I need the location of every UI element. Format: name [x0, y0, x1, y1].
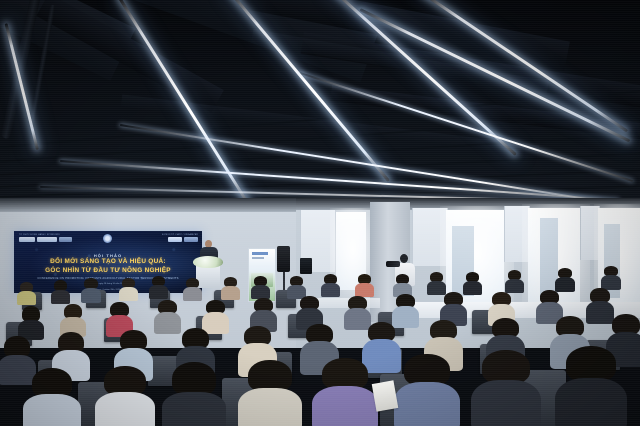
- attendee: [172, 362, 216, 426]
- attendee: [566, 346, 616, 426]
- attendee: [248, 360, 292, 426]
- flower-arrangement: [193, 256, 223, 268]
- attendee: [604, 266, 618, 290]
- attendee: [368, 322, 395, 372]
- attendee: [4, 336, 30, 384]
- photographer-head: [400, 254, 408, 263]
- attendee: [358, 274, 371, 296]
- attendee: [558, 268, 572, 292]
- logo-chip: [37, 237, 57, 242]
- attendee: [430, 272, 443, 294]
- audience-area: [0, 282, 640, 426]
- logo-chip: [59, 237, 72, 242]
- wall-monitor: [300, 258, 312, 274]
- attendee: [404, 354, 450, 426]
- camera-lens-icon: [386, 261, 400, 267]
- attendee: [84, 278, 98, 302]
- screen-title-line-2: GÓC NHÌN TỪ ĐẦU TƯ NÔNG NGHIỆP: [14, 267, 202, 276]
- screen-sponsor-logos: TỔ CHỨC ĐỒNG HÀNH / SPONSORS: [19, 234, 72, 242]
- screen-subtitle: CONFERENCE ON PROMOTING VIETNAM'S AGRICU…: [14, 277, 202, 280]
- pa-speaker: [277, 246, 290, 272]
- attendee: [254, 276, 267, 298]
- attendee: [158, 300, 177, 334]
- attendee: [32, 368, 72, 426]
- attendee: [104, 366, 146, 426]
- screen-center-seal: [103, 234, 112, 243]
- screen-left-logo-caption: TỔ CHỨC ĐỒNG HÀNH / SPONSORS: [19, 234, 72, 236]
- exposed-industrial-ceiling: [0, 0, 640, 222]
- attendee: [612, 314, 640, 366]
- conference-hall-photo: TỔ CHỨC ĐỒNG HÀNH / SPONSORS ĐƠN VỊ TỔ C…: [0, 0, 640, 426]
- attendee: [224, 277, 237, 299]
- screen-organizer-logos: ĐƠN VỊ TỔ CHỨC / ORGANIZER: [162, 234, 198, 242]
- attendee: [22, 306, 40, 338]
- attendee: [186, 278, 199, 300]
- attendee: [290, 276, 303, 298]
- attendee: [590, 288, 610, 324]
- attendee: [54, 280, 67, 302]
- attendee: [324, 274, 337, 296]
- logo-chip: [168, 237, 182, 242]
- attendee: [466, 272, 479, 294]
- attendee: [322, 358, 368, 426]
- attendee: [20, 282, 33, 304]
- attendee: [482, 350, 530, 426]
- attendee: [396, 294, 415, 328]
- attendee: [122, 278, 135, 300]
- attendee: [396, 274, 409, 296]
- attendee: [348, 296, 367, 330]
- screen-right-logo-caption: ĐƠN VỊ TỔ CHỨC / ORGANIZER: [162, 234, 198, 236]
- screen-title-line-1: ĐỔI MỚI SÁNG TẠO VÀ HIỆU QUẢ:: [14, 258, 202, 267]
- attendee: [508, 270, 521, 292]
- attendee: [152, 276, 165, 298]
- held-document: [372, 380, 399, 411]
- logo-chip: [19, 237, 35, 242]
